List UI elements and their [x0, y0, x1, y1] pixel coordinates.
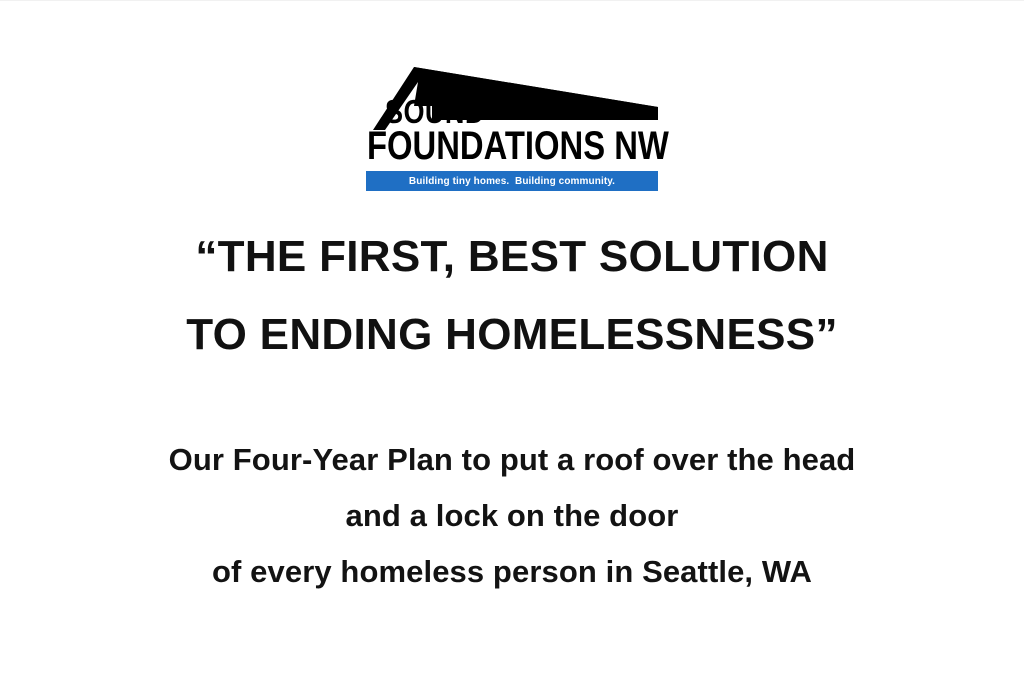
logo-word-foundations-nw: FOUNDATIONS NW — [367, 127, 606, 166]
subhead: Our Four-Year Plan to put a roof over th… — [0, 432, 1024, 600]
sound-foundations-nw-logo: SOUND FOUNDATIONS NW Building tiny homes… — [366, 60, 658, 192]
subhead-line-2: and a lock on the door — [0, 488, 1024, 544]
headline-line-1: “THE FIRST, BEST SOLUTION — [0, 218, 1024, 296]
logo-word-sound: SOUND — [385, 96, 609, 127]
headline-line-2: TO ENDING HOMELESSNESS” — [0, 296, 1024, 374]
logo-tagline-bar: Building tiny homes. Building community. — [366, 171, 658, 191]
logo-wordmark: SOUND FOUNDATIONS NW — [366, 96, 658, 166]
subhead-line-3: of every homeless person in Seattle, WA — [0, 544, 1024, 600]
headline: “THE FIRST, BEST SOLUTION TO ENDING HOME… — [0, 218, 1024, 374]
subhead-line-1: Our Four-Year Plan to put a roof over th… — [0, 432, 1024, 488]
logo-tagline-text: Building tiny homes. Building community. — [409, 176, 615, 187]
top-edge-hairline — [0, 0, 1024, 1]
title-slide: SOUND FOUNDATIONS NW Building tiny homes… — [0, 0, 1024, 677]
